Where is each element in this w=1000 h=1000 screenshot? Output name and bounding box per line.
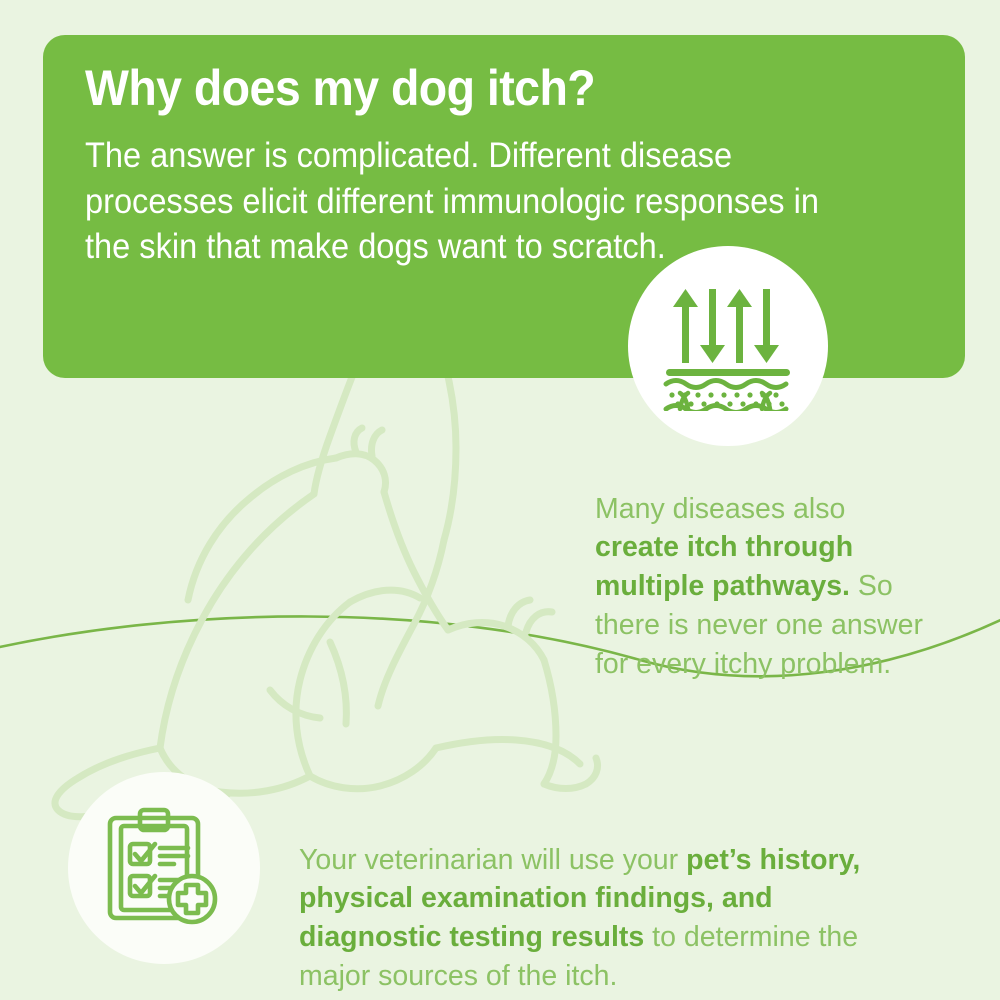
page-title: Why does my dog itch?: [85, 61, 866, 115]
paragraph-veterinarian-diagnosis: Your veterinarian will use your pet’s hi…: [299, 841, 919, 996]
clipboard-checklist-medical-icon: [104, 806, 224, 930]
text-run-bold: create itch through multiple pathways.: [595, 531, 853, 602]
infographic-canvas: Why does my dog itch? The answer is comp…: [0, 0, 1000, 1000]
clipboard-icon-circle: [68, 772, 260, 964]
skin-layers-arrows-icon: [658, 281, 798, 411]
header-card: Why does my dog itch? The answer is comp…: [43, 35, 965, 378]
skin-icon-circle: [628, 246, 828, 446]
text-run: Your veterinarian will use your: [299, 844, 686, 876]
text-run: Many diseases also: [595, 493, 845, 525]
paragraph-multiple-pathways: Many diseases also create itch through m…: [595, 490, 925, 684]
